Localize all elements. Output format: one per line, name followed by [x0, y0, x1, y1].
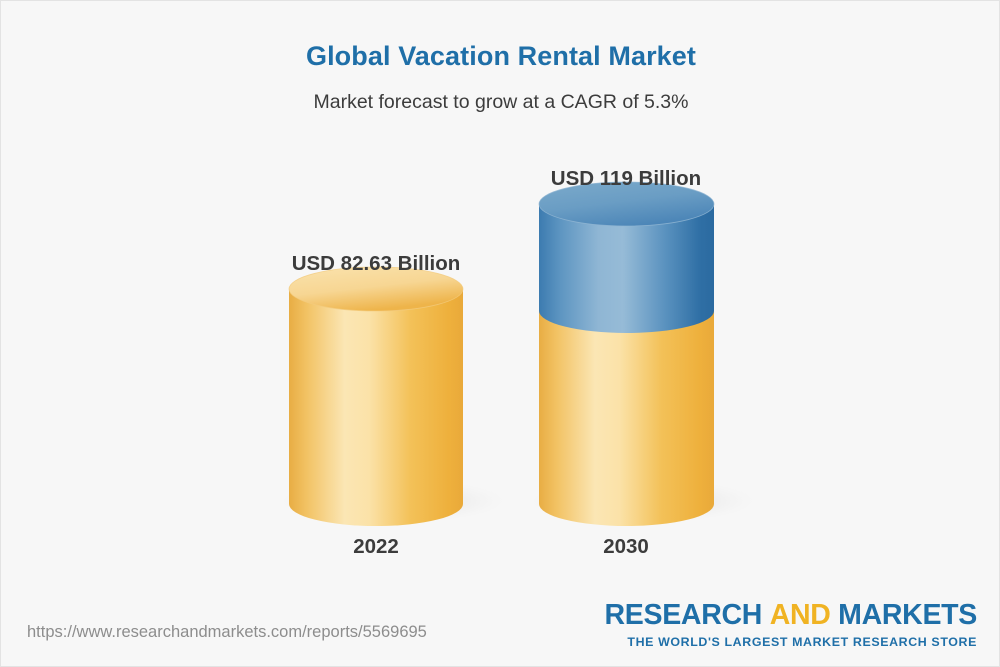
brand-logo[interactable]: RESEARCH AND MARKETS THE WORLD'S LARGEST… [605, 601, 977, 648]
brand-word-and: AND [770, 599, 831, 631]
bar-2022-body [289, 289, 463, 526]
brand-word-research: RESEARCH [605, 599, 763, 631]
chart-plot-area: USD 82.63 Billion USD 119 Billion 2022 2… [1, 1, 1000, 601]
category-label-2022: 2022 [276, 535, 476, 559]
cylinder-bar-chart [1, 1, 1000, 601]
infographic-canvas: Global Vacation Rental Market Market for… [0, 0, 1000, 667]
bar-2022[interactable] [289, 267, 463, 526]
brand-tagline: THE WORLD'S LARGEST MARKET RESEARCH STOR… [605, 636, 977, 648]
source-url[interactable]: https://www.researchandmarkets.com/repor… [27, 623, 427, 642]
category-label-2030: 2030 [526, 535, 726, 559]
value-label-2030: USD 119 Billion [526, 167, 726, 191]
bar-2030[interactable] [539, 182, 714, 526]
brand-wordmark: RESEARCH AND MARKETS [605, 601, 977, 630]
bar-2030-body-lower [539, 311, 714, 526]
value-label-2022: USD 82.63 Billion [276, 252, 476, 276]
brand-word-markets: MARKETS [838, 599, 977, 631]
